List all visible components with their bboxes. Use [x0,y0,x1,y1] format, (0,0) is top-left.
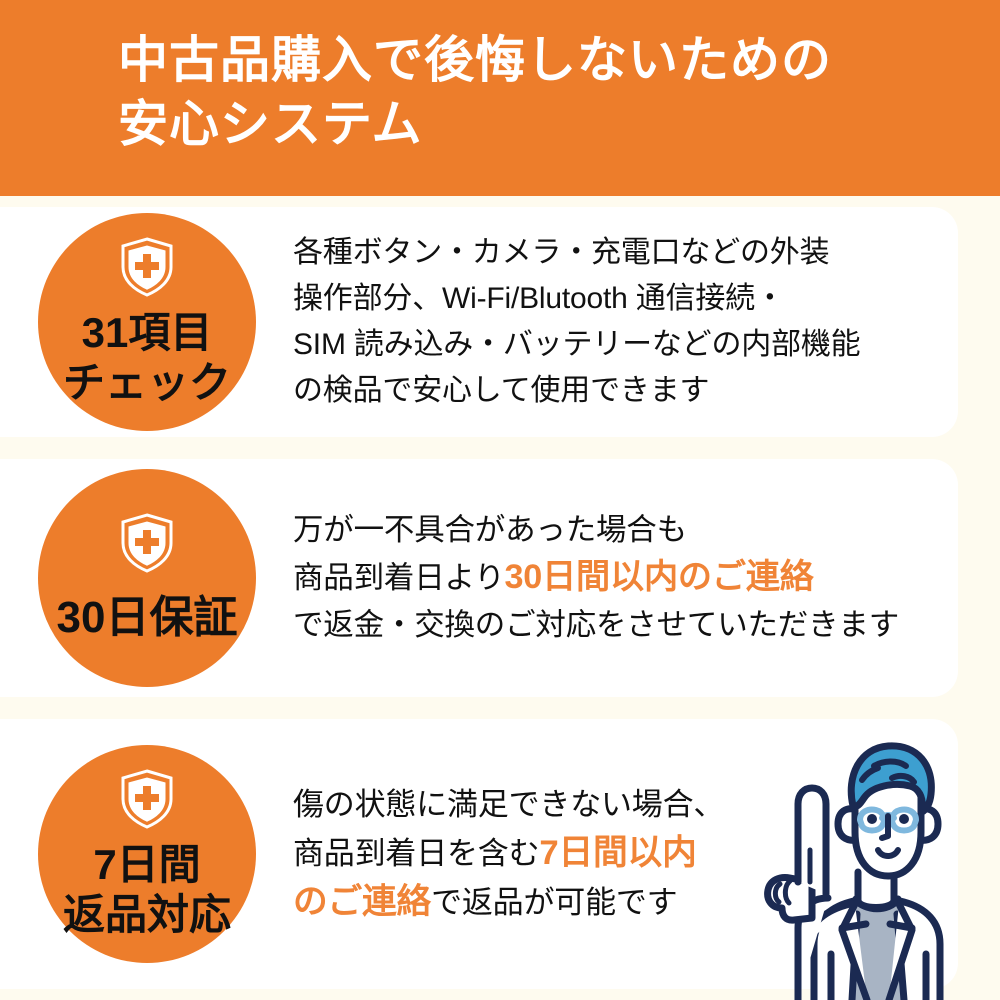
feature-description-warranty: 万が一不具合があった場合も 商品到着日より30日間以内のご連絡 で返金・交換のご… [293,507,899,649]
feature-row-warranty: 30日保証 万が一不具合があった場合も 商品到着日より30日間以内のご連絡 で返… [0,448,1000,708]
badge-label: 7日間 返品対応 [63,840,231,939]
description-line-2-highlight: 7日間以内 [539,834,696,872]
description-line-3: SIM 読み込み・バッテリーなどの内部機能 [293,322,860,368]
description-line-2-highlight: 30日間以内のご連絡 [505,558,814,596]
feature-row-return: 7日間 返品対応 傷の状態に満足できない場合、 商品到着日を含む7日間以内 のご… [0,708,1000,1000]
page-title-line-1: 中古品購入で後悔しないための [118,28,1000,92]
badge-7-day-return: 7日間 返品対応 [38,745,256,963]
badge-label-line-2: 返品対応 [63,890,231,940]
description-line-2: 商品到着日を含む7日間以内 [293,829,724,878]
description-line-1: 万が一不具合があった場合も [293,507,899,554]
badge-30-day-warranty: 30日保証 [38,469,256,687]
description-line-4: の検品で安心して使用できます [293,368,860,414]
badge-label-line-1: 31項目 [63,308,231,358]
badge-label-line-2: チェック [63,358,231,408]
description-line-3-suffix: で返品が可能です [431,885,677,920]
description-line-2: 操作部分、Wi-Fi/Blutooth 通信接続・ [293,276,860,322]
description-line-2-prefix: 商品到着日を含む [293,836,539,871]
feature-row-inspection: 31項目 チェック 各種ボタン・カメラ・充電口などの外装 操作部分、Wi-Fi/… [0,196,1000,448]
badge-label-line-1: 7日間 [63,840,231,890]
shield-check-icon [119,237,175,302]
page-title-line-2: 安心システム [118,92,1000,156]
feature-rows: 31項目 チェック 各種ボタン・カメラ・充電口などの外装 操作部分、Wi-Fi/… [0,196,1000,1000]
badge-31-item-check: 31項目 チェック [38,213,256,431]
feature-description-inspection: 各種ボタン・カメラ・充電口などの外装 操作部分、Wi-Fi/Blutooth 通… [293,230,860,414]
description-line-1: 傷の状態に満足できない場合、 [293,781,724,829]
badge-label: 31項目 チェック [63,308,231,407]
description-line-3: のご連絡で返品が可能です [293,878,724,927]
description-line-3: で返金・交換のご対応をさせていただきます [293,602,899,649]
description-line-3-highlight: のご連絡 [293,883,431,921]
description-line-2-prefix: 商品到着日より [293,561,505,595]
page-header: 中古品購入で後悔しないための 安心システム [0,0,1000,196]
shield-check-icon [119,513,175,578]
badge-label-line-1: 30日保証 [57,592,238,644]
feature-description-return: 傷の状態に満足できない場合、 商品到着日を含む7日間以内 のご連絡で返品が可能で… [293,781,724,927]
description-line-2: 商品到着日より30日間以内のご連絡 [293,554,899,602]
description-line-1: 各種ボタン・カメラ・充電口などの外装 [293,230,860,276]
badge-label: 30日保証 [57,592,238,644]
shield-check-icon [119,769,175,834]
